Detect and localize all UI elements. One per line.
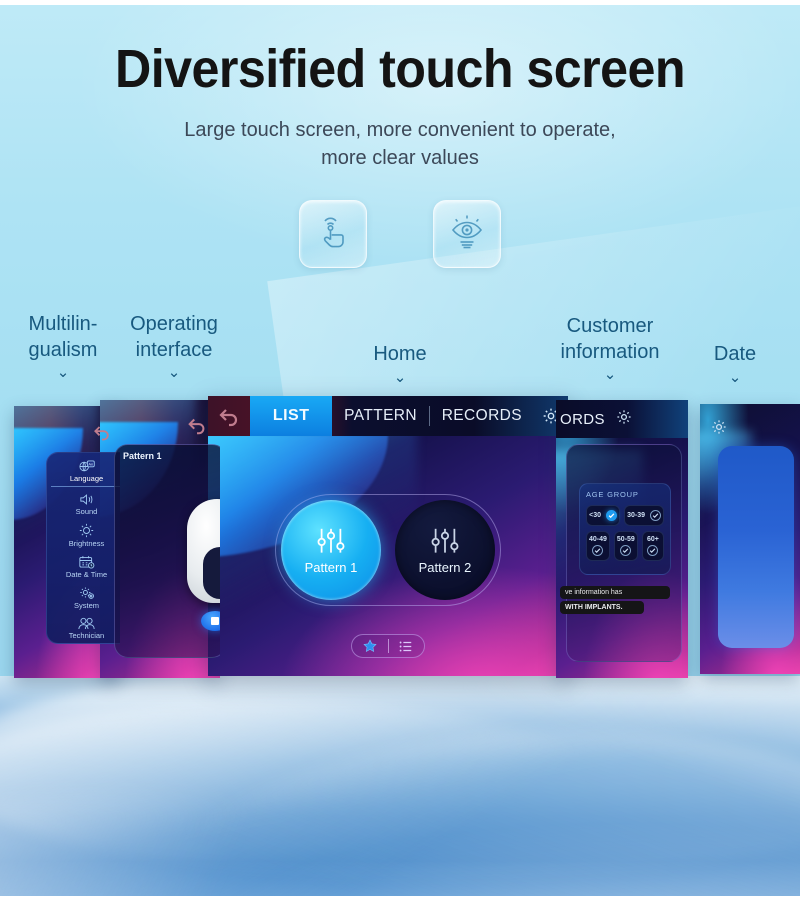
touch-gesture-tile bbox=[299, 200, 367, 268]
stop-square-icon bbox=[211, 617, 219, 625]
back-arrow-icon bbox=[217, 404, 241, 428]
view-mode-toggle bbox=[351, 634, 425, 658]
date-picker-card[interactable] bbox=[718, 446, 794, 648]
callout-line-1: Date bbox=[714, 343, 756, 365]
device-screens-group: An Language Sound Brightness bbox=[0, 386, 800, 696]
tab-records[interactable]: RECORDS bbox=[430, 396, 534, 436]
screen-operating-interface[interactable]: Pattern 1 bbox=[100, 400, 220, 678]
back-arrow-icon bbox=[186, 414, 208, 436]
page-subtitle: Large touch screen, more convenient to o… bbox=[100, 117, 700, 172]
check-icon bbox=[606, 510, 617, 521]
pattern-selector: Pattern 1 Pattern 2 bbox=[275, 494, 501, 606]
sidebar-item-brightness[interactable]: Brightness bbox=[51, 523, 120, 548]
screen-multilingualism[interactable]: An Language Sound Brightness bbox=[14, 406, 120, 678]
sidebar-item-technician[interactable]: Technician bbox=[51, 617, 120, 640]
screen-customer-information[interactable]: ORDS AGE GROUP <30 bbox=[556, 400, 688, 678]
brightness-sun-icon bbox=[79, 523, 94, 538]
bottom-white-strip bbox=[0, 896, 800, 902]
sliders-icon bbox=[315, 526, 347, 556]
touch-hand-icon bbox=[313, 212, 353, 257]
promo-page: Diversified touch screen Large touch scr… bbox=[0, 0, 800, 902]
pattern-detail-card: Pattern 1 bbox=[114, 444, 220, 658]
age-option-30-39[interactable]: 30-39 bbox=[624, 505, 664, 526]
chevron-down-icon: ⌄ bbox=[118, 365, 230, 380]
check-icon bbox=[592, 545, 603, 556]
gear-icon bbox=[710, 418, 728, 436]
subtitle-line-2: more clear values bbox=[100, 145, 700, 173]
customer-form-card: AGE GROUP <30 30-39 bbox=[566, 444, 682, 662]
pattern-1-button[interactable]: Pattern 1 bbox=[281, 500, 381, 600]
page-title: Diversified touch screen bbox=[28, 38, 772, 100]
back-button[interactable] bbox=[186, 414, 208, 441]
gear-icon bbox=[79, 586, 95, 600]
tab-list[interactable]: LIST bbox=[250, 396, 332, 436]
top-white-strip bbox=[0, 0, 800, 5]
sliders-icon bbox=[429, 526, 461, 556]
callout-home: Home ⌄ bbox=[350, 342, 450, 385]
pattern-2-button[interactable]: Pattern 2 bbox=[395, 500, 495, 600]
age-group-field: AGE GROUP <30 30-39 bbox=[579, 483, 671, 575]
gear-icon bbox=[615, 408, 633, 426]
check-icon bbox=[647, 545, 658, 556]
sidebar-item-language[interactable]: An Language bbox=[51, 460, 120, 487]
check-icon bbox=[650, 510, 661, 521]
clear-vision-tile bbox=[433, 200, 501, 268]
age-option-label: 60+ bbox=[647, 536, 659, 543]
age-option-40-49[interactable]: 40-49 bbox=[586, 531, 610, 561]
callout-line-1: Multilin- bbox=[29, 313, 98, 335]
background-water-waves bbox=[0, 676, 800, 902]
callout-line-2: information bbox=[561, 341, 660, 363]
check-icon bbox=[620, 545, 631, 556]
pattern-1-label: Pattern 1 bbox=[305, 560, 358, 575]
age-option-label: <30 bbox=[589, 512, 601, 519]
sidebar-item-sound[interactable]: Sound bbox=[51, 493, 120, 516]
sidebar-item-label: Date & Time bbox=[66, 570, 107, 579]
chevron-down-icon: ⌄ bbox=[8, 365, 118, 380]
sidebar-item-system[interactable]: System bbox=[51, 586, 120, 610]
warning-toast: ve information has WITH IMPLANTS. bbox=[560, 586, 670, 616]
svg-text:An: An bbox=[88, 461, 93, 466]
age-option-label: 40-49 bbox=[589, 536, 607, 543]
age-option-label: 30-39 bbox=[627, 512, 645, 519]
back-button[interactable] bbox=[208, 396, 250, 436]
language-globe-icon: An bbox=[79, 460, 95, 473]
age-group-label: AGE GROUP bbox=[586, 490, 664, 499]
tab-records-partial[interactable]: ORDS bbox=[560, 411, 605, 428]
handpiece-device-image bbox=[187, 499, 220, 603]
star-icon bbox=[363, 639, 377, 653]
age-group-row: 40-49 50-59 60+ bbox=[586, 531, 664, 561]
back-arrow-icon bbox=[92, 422, 112, 442]
back-button[interactable] bbox=[92, 422, 112, 447]
callout-line-2: gualism bbox=[29, 339, 98, 361]
calendar-clock-icon bbox=[79, 555, 95, 569]
screen-home[interactable]: LIST PATTERN RECORDS bbox=[208, 396, 568, 676]
pattern-badge: Pattern 1 bbox=[123, 451, 162, 461]
list-icon bbox=[399, 640, 413, 653]
screen-date[interactable]: 3 bbox=[700, 404, 800, 674]
sidebar-item-label: Technician bbox=[69, 631, 104, 640]
list-view-button[interactable] bbox=[388, 640, 424, 653]
callout-line-2: interface bbox=[136, 339, 213, 361]
callout-date: Date ⌄ bbox=[690, 342, 780, 385]
chevron-down-icon: ⌄ bbox=[534, 367, 686, 382]
speaker-icon bbox=[79, 493, 94, 506]
feature-tiles bbox=[0, 200, 800, 286]
callout-operating-interface: Operating interface ⌄ bbox=[118, 312, 230, 380]
sidebar-item-label: Language bbox=[70, 474, 103, 483]
customer-toolbar: ORDS bbox=[556, 400, 688, 438]
pattern-2-label: Pattern 2 bbox=[419, 560, 472, 575]
sidebar-item-label: System bbox=[74, 601, 99, 610]
sidebar-item-date-time[interactable]: Date & Time bbox=[51, 555, 120, 579]
tab-pattern[interactable]: PATTERN bbox=[332, 396, 429, 436]
eye-vision-icon bbox=[446, 211, 488, 258]
callout-customer-information: Customer information ⌄ bbox=[534, 314, 686, 382]
favorites-view-button[interactable] bbox=[352, 639, 388, 653]
toast-line-1: ve information has bbox=[560, 586, 670, 599]
chevron-down-icon: ⌄ bbox=[350, 370, 450, 385]
callout-multilingualism: Multilin- gualism ⌄ bbox=[8, 312, 118, 380]
callout-line-1: Customer bbox=[567, 315, 654, 337]
sidebar-item-label: Sound bbox=[76, 507, 98, 516]
callout-line-1: Operating bbox=[130, 313, 218, 335]
subtitle-line-1: Large touch screen, more convenient to o… bbox=[100, 117, 700, 145]
toast-line-2: WITH IMPLANTS. bbox=[560, 601, 644, 614]
main-toolbar: LIST PATTERN RECORDS bbox=[208, 396, 568, 436]
settings-button[interactable] bbox=[615, 408, 633, 431]
age-group-row: <30 30-39 bbox=[586, 505, 664, 526]
users-icon bbox=[78, 617, 95, 630]
stop-button[interactable] bbox=[201, 611, 220, 631]
age-option-label: 50-59 bbox=[617, 536, 635, 543]
sidebar-item-label: Brightness bbox=[69, 539, 104, 548]
age-option-under-30[interactable]: <30 bbox=[586, 505, 620, 526]
settings-menu: An Language Sound Brightness bbox=[46, 452, 120, 644]
chevron-down-icon: ⌄ bbox=[690, 370, 780, 385]
callout-line-1: Home bbox=[373, 343, 426, 365]
age-option-60-plus[interactable]: 60+ bbox=[642, 531, 664, 561]
age-option-50-59[interactable]: 50-59 bbox=[614, 531, 638, 561]
settings-button[interactable] bbox=[710, 418, 728, 441]
